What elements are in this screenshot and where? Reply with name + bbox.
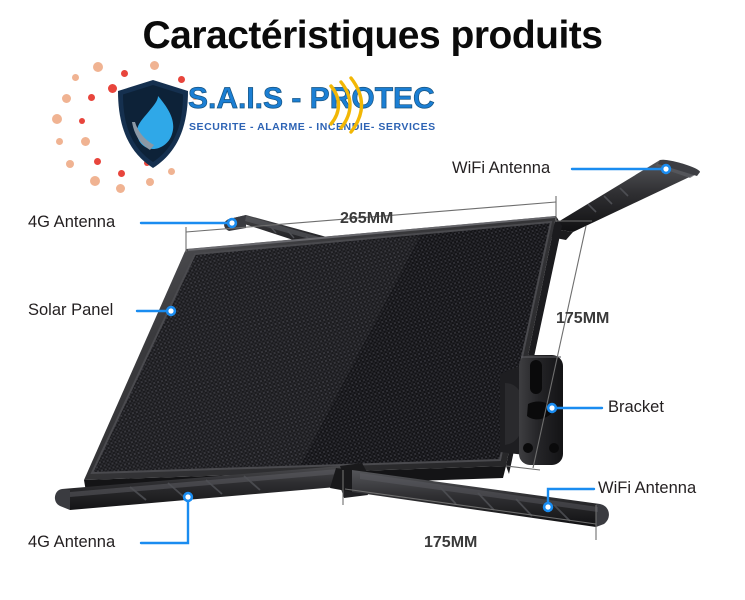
solar-panel-part [80, 210, 570, 492]
callout-label-solar-panel: Solar Panel [28, 301, 113, 320]
dimension-label-depth-175: 175MM [424, 534, 477, 552]
dimension-label-height-175: 175MM [556, 310, 609, 328]
callout-label-wifi-antenna-top: WiFi Antenna [452, 159, 550, 178]
wifi-antenna-top-part [545, 160, 700, 240]
dimension-label-width-265: 265MM [340, 210, 393, 228]
bracket-part [500, 355, 563, 465]
solar-panel-with-antennas [0, 0, 745, 600]
callout-label-wifi-antenna-bottom: WiFi Antenna [598, 479, 696, 498]
product-spec-sheet: Caractéristiques produits [0, 0, 745, 600]
callout-label-bracket: Bracket [608, 398, 664, 417]
callout-label-4g-antenna-top: 4G Antenna [28, 213, 115, 232]
callout-label-4g-antenna-bottom: 4G Antenna [28, 533, 115, 552]
